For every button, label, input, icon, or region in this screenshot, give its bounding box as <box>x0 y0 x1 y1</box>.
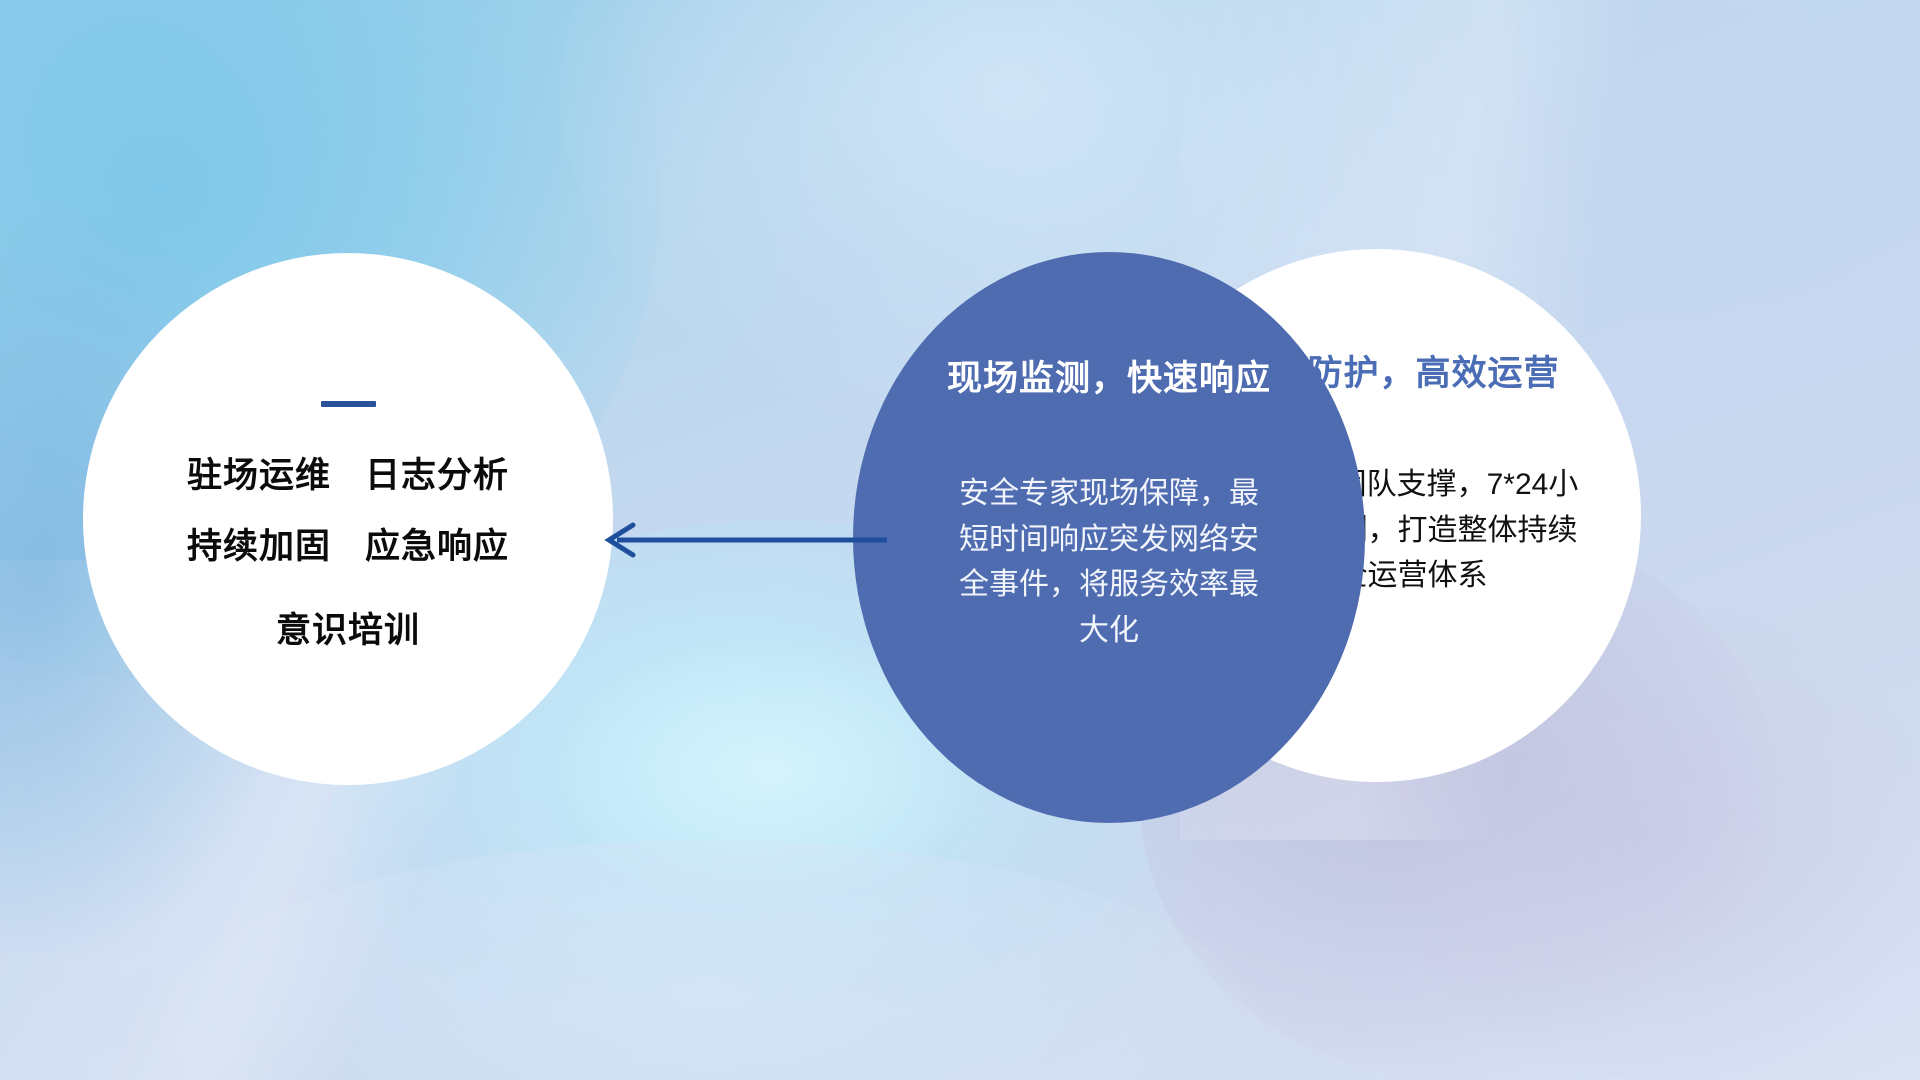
flow-arrow-left <box>595 505 895 575</box>
onsite-monitoring-title: 现场监测，快速响应 <box>947 350 1271 401</box>
services-circle-content: 驻场运维 日志分析 持续加固 应急响应 意识培训 <box>83 253 613 785</box>
diagram-stage: 驻场运维 日志分析 持续加固 应急响应 意识培训 持续防护，高效运营 远程专家团… <box>0 0 1920 1080</box>
service-item-continuous-hardening[interactable]: 持续加固 <box>187 526 331 567</box>
service-item-onsite-ops[interactable]: 驻场运维 <box>187 455 331 496</box>
service-row: 驻场运维 日志分析 <box>187 455 509 496</box>
services-circle[interactable]: 驻场运维 日志分析 持续加固 应急响应 意识培训 <box>83 253 613 785</box>
onsite-monitoring-content: 现场监测，快速响应 安全专家现场保障，最短时间响应突发网络安全事件，将服务效率最… <box>853 252 1365 823</box>
service-row: 意识培训 <box>276 610 420 651</box>
service-row: 持续加固 应急响应 <box>187 526 509 567</box>
onsite-monitoring-circle[interactable]: 现场监测，快速响应 安全专家现场保障，最短时间响应突发网络安全事件，将服务效率最… <box>853 252 1365 823</box>
service-item-emergency-response[interactable]: 应急响应 <box>365 526 509 567</box>
service-item-log-analysis[interactable]: 日志分析 <box>365 455 509 496</box>
divider-line <box>321 401 376 407</box>
onsite-monitoring-body: 安全专家现场保障，最短时间响应突发网络安全事件，将服务效率最大化 <box>955 471 1263 653</box>
arrow-left-icon <box>609 525 887 555</box>
service-item-awareness-training[interactable]: 意识培训 <box>276 610 420 651</box>
